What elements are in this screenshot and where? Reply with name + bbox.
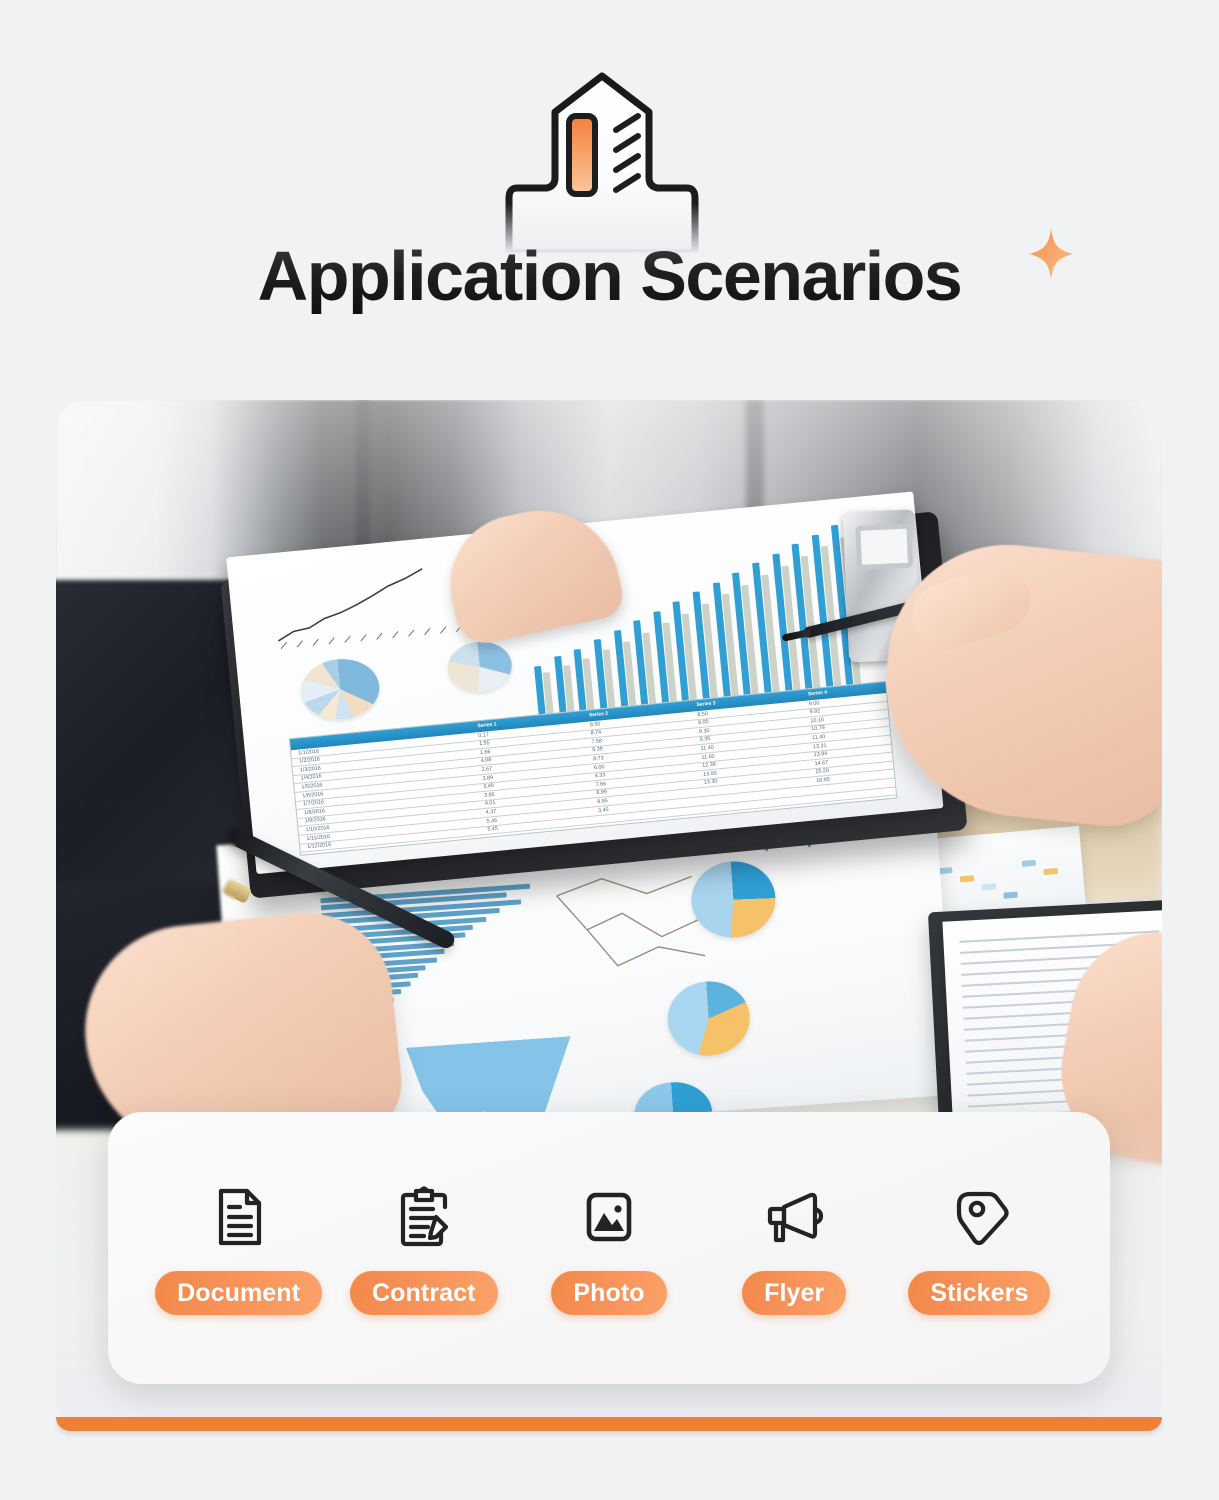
report-table-cell: 1/4/2016 <box>300 774 321 782</box>
report-table-cell: 13.00 <box>703 770 717 777</box>
report-table-cell: 14.67 <box>814 760 828 767</box>
feature-badge-flyer[interactable]: Flyer <box>742 1271 846 1315</box>
report-table-header: Series 4 <box>808 690 828 698</box>
report-table-header: Series 3 <box>696 700 716 708</box>
report-table-cell: 10.16 <box>810 717 824 724</box>
page-header: Application Scenarios <box>0 0 1219 390</box>
report-table-cell: 3.45 <box>598 807 609 814</box>
report-table-cell: 15.20 <box>815 768 829 775</box>
building-scanner-icon <box>497 68 707 253</box>
report-table-cell: 7.58 <box>591 738 602 745</box>
feature-badge-photo[interactable]: Photo <box>551 1271 666 1315</box>
report-table-cell: 1/7/2016 <box>303 799 324 807</box>
lower-pie-chart-2 <box>665 979 752 1059</box>
report-table-cell: 3.89 <box>482 775 493 782</box>
report-table-cell: 10.79 <box>811 725 825 732</box>
feature-item-stickers[interactable]: Stickers <box>887 1181 1072 1315</box>
report-table-cell: 8.50 <box>697 711 708 718</box>
report-table-cell: 8.73 <box>593 755 604 762</box>
report-table-cell: 9.92 <box>809 708 820 715</box>
report-table-cell: 0.17 <box>478 732 489 739</box>
report-table-cell: 8.74 <box>590 730 601 737</box>
report-table-cell: 5.45 <box>487 826 498 833</box>
report-table-cell: 1/3/2016 <box>300 765 321 773</box>
report-table-cell: 4.33 <box>595 772 606 779</box>
report-table-cell: 1/5/2016 <box>301 782 322 790</box>
stack-paper-bar <box>1043 868 1057 875</box>
report-table-cell: 4.01 <box>485 800 496 807</box>
report-table-cell: 16.95 <box>816 777 830 784</box>
report-table-cell: 13.30 <box>704 779 718 786</box>
report-table-cell: 1/12/2016 <box>307 842 331 850</box>
report-table-cell: 9.35 <box>700 736 711 743</box>
feature-list: Document Contract <box>108 1112 1110 1384</box>
feature-badge-stickers[interactable]: Stickers <box>908 1271 1050 1315</box>
report-table-cell: 4.37 <box>486 809 497 816</box>
image-icon <box>573 1181 645 1253</box>
feature-item-flyer[interactable]: Flyer <box>702 1181 887 1315</box>
report-table-cell: 9.39 <box>592 747 603 754</box>
report-table-cell: 8.99 <box>596 789 607 796</box>
report-table-cell: 3.49 <box>483 783 494 790</box>
stack-paper-bar <box>1003 892 1017 899</box>
report-table-cell: 1/9/2016 <box>305 817 326 825</box>
report-table-cell: 1/8/2016 <box>304 808 325 816</box>
clipboard-pen-icon <box>388 1181 460 1253</box>
report-table-cell: 11.40 <box>700 745 714 752</box>
report-table-cell: 1/11/2016 <box>306 833 330 841</box>
report-pie-chart-1 <box>299 656 382 723</box>
report-table-cell: 1.55 <box>479 740 490 747</box>
report-table-cell: 12.39 <box>702 762 716 769</box>
photo-bottom-accent-bar <box>56 1417 1162 1431</box>
report-table-cell: 7.66 <box>595 781 606 788</box>
report-table-cell: 11.40 <box>812 734 826 741</box>
feature-badge-contract[interactable]: Contract <box>350 1271 498 1315</box>
stack-paper-bar <box>982 883 996 890</box>
report-table-cell: 11.60 <box>701 753 715 760</box>
page-title: Application Scenarios <box>258 240 962 314</box>
report-table-header: Series 2 <box>589 711 609 719</box>
report-table-header: Series 1 <box>477 721 497 729</box>
sparkle-icon <box>1029 228 1073 280</box>
price-tag-icon <box>943 1181 1015 1253</box>
clipboard-ruled-line <box>961 955 1109 965</box>
document-icon <box>203 1181 275 1253</box>
megaphone-icon <box>758 1181 830 1253</box>
report-table-cell: 13.94 <box>814 751 828 758</box>
application-scenarios-panel: Document Contract <box>108 1112 1110 1384</box>
feature-item-document[interactable]: Document <box>146 1181 331 1315</box>
report-table-cell: 9.00 <box>809 700 820 707</box>
stack-paper-bar <box>1022 860 1036 867</box>
report-table-cell: 5.46 <box>486 817 497 824</box>
report-table-cell: 1.66 <box>480 749 491 756</box>
report-table-cell: 1/2/2016 <box>299 757 320 765</box>
report-table-cell: 9.30 <box>699 728 710 735</box>
report-table-cell: 6.00 <box>594 764 605 771</box>
report-table-cell: 9.50 <box>590 721 601 728</box>
report-table-cell: 2.67 <box>481 766 492 773</box>
report-table-cell: 1/10/2016 <box>305 825 329 833</box>
report-pie-chart-2 <box>446 639 514 695</box>
feature-badge-document[interactable]: Document <box>155 1271 322 1315</box>
report-table-cell: 9.00 <box>698 719 709 726</box>
report-table-cell: 3.85 <box>484 792 495 799</box>
report-table-cell: 1/1/2016 <box>298 748 319 756</box>
report-table-cell: 13.31 <box>813 742 827 749</box>
stack-paper-bar <box>960 875 974 882</box>
scatter-line-chart <box>549 863 716 984</box>
report-table-cell: 9.95 <box>597 798 608 805</box>
feature-item-contract[interactable]: Contract <box>331 1181 516 1315</box>
report-table-cell: 4.08 <box>481 757 492 764</box>
report-table-cell: 1/6/2016 <box>302 791 323 799</box>
feature-item-photo[interactable]: Photo <box>516 1181 701 1315</box>
